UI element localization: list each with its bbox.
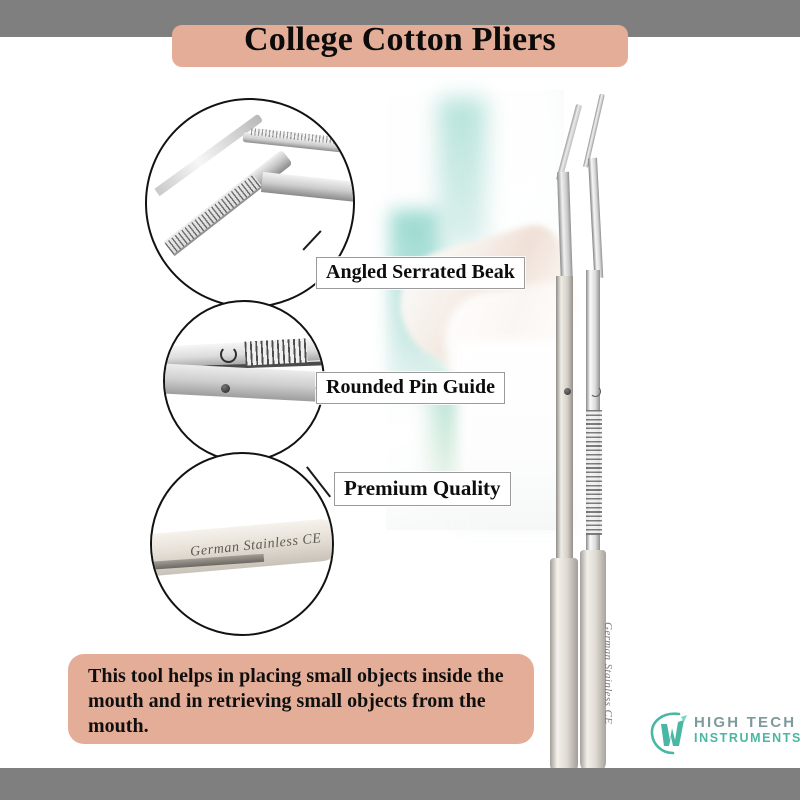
product-front-beak (557, 172, 573, 282)
high-tech-mark-icon (648, 708, 696, 756)
product-engraving-text: German Stainless CE (596, 622, 614, 742)
description-text: This tool helps in placing small objects… (88, 664, 518, 739)
product-serrated-grip (586, 410, 602, 535)
product-back-beak (588, 158, 603, 278)
product-front-beak-tip (556, 104, 582, 181)
inset2-ribbed-grip (244, 338, 307, 365)
inset2-rivet (221, 384, 230, 393)
inset2-lower-arm (163, 363, 325, 403)
callout-angled-serrated-beak: Angled Serrated Beak (316, 257, 525, 289)
brand-name-primary: HIGH TECH (694, 714, 800, 731)
page-title: College Cotton Pliers (0, 20, 800, 60)
infographic-canvas: College Cotton Pliers German Stainless C… (0, 0, 800, 800)
brand-logo: HIGH TECH INSTRUMENTS (648, 706, 794, 758)
product-back-beak-tip (583, 93, 605, 167)
product-image (520, 80, 660, 750)
callout-rounded-pin-guide: Rounded Pin Guide (316, 372, 505, 404)
product-front-handle (550, 558, 578, 778)
inset-pin-closeup (163, 300, 325, 462)
inset1-lower-beak-shank (261, 172, 355, 203)
inset2-rounded-pin-guide (220, 346, 237, 363)
product-rivet-pin (564, 388, 571, 395)
inset-handle-closeup: German Stainless CE (150, 452, 334, 636)
photo-teal-blob-top (438, 98, 486, 248)
bottom-band (0, 768, 800, 800)
callout-premium-quality: Premium Quality (334, 472, 511, 506)
product-rounded-pin-guide (590, 386, 601, 397)
brand-name-secondary: INSTRUMENTS (694, 731, 800, 746)
brand-logo-text: HIGH TECH INSTRUMENTS (694, 714, 800, 746)
inset1-serration-lower (165, 175, 262, 255)
product-front-shank (556, 276, 573, 576)
